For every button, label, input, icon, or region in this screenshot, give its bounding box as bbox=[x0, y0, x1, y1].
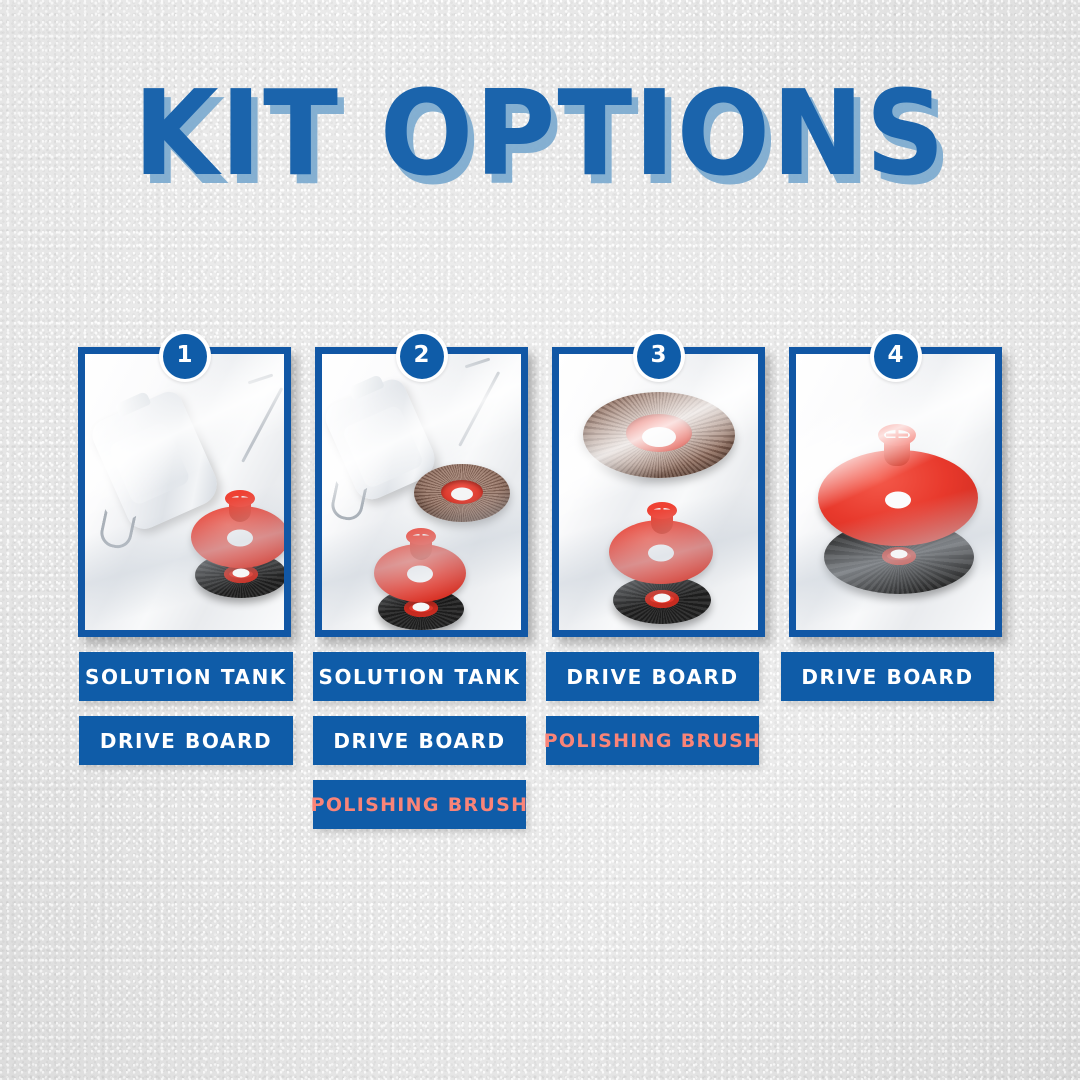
card-number-badge: 3 bbox=[633, 330, 685, 382]
label-bar-polishing-brush[interactable]: POLISHING BRUSH bbox=[546, 716, 759, 765]
label-bar[interactable]: SOLUTION TANK bbox=[79, 652, 293, 701]
card-number-badge-label: 4 bbox=[874, 334, 918, 379]
label-bar[interactable]: SOLUTION TANK bbox=[313, 652, 526, 701]
kit-option-card-2[interactable]: 2 bbox=[315, 347, 528, 637]
kit-option-card-1[interactable]: 1 bbox=[78, 347, 291, 637]
tank-hook-icon bbox=[98, 509, 137, 551]
card-number-badge-label: 3 bbox=[637, 334, 681, 379]
card-number-badge: 2 bbox=[396, 330, 448, 382]
label-bar[interactable]: DRIVE BOARD bbox=[781, 652, 994, 701]
tank-wand-tip-icon bbox=[248, 374, 274, 385]
drive-hub-icon bbox=[647, 502, 677, 519]
product-illustration bbox=[559, 354, 758, 630]
polishing-brush-icon bbox=[414, 464, 510, 522]
tank-wand-icon bbox=[241, 387, 283, 463]
drive-hub-icon bbox=[878, 424, 916, 446]
product-photo-1 bbox=[85, 354, 284, 630]
drive-hub-icon bbox=[225, 490, 255, 507]
product-photo-4 bbox=[796, 354, 995, 630]
drive-board-stack bbox=[370, 522, 480, 630]
drive-board-stack bbox=[187, 484, 284, 604]
tank-wand-icon bbox=[458, 371, 500, 447]
label-column-4: DRIVE BOARD bbox=[781, 652, 994, 716]
label-bar[interactable]: DRIVE BOARD bbox=[79, 716, 293, 765]
card-number-badge: 1 bbox=[159, 330, 211, 382]
kit-option-card-3[interactable]: 3 bbox=[552, 347, 765, 637]
kit-options-card-row: 1 2 bbox=[78, 347, 1002, 637]
product-illustration bbox=[85, 354, 284, 630]
drive-board-stack bbox=[810, 406, 990, 606]
tank-hook-icon bbox=[329, 481, 368, 523]
label-column-2: SOLUTION TANK DRIVE BOARD POLISHING BRUS… bbox=[313, 652, 526, 844]
card-number-badge: 4 bbox=[870, 330, 922, 382]
polishing-brush-hole bbox=[451, 488, 473, 501]
tank-wand-tip-icon bbox=[465, 358, 491, 369]
product-illustration bbox=[322, 354, 521, 630]
label-bar[interactable]: DRIVE BOARD bbox=[546, 652, 759, 701]
product-photo-3 bbox=[559, 354, 758, 630]
polishing-brush-icon bbox=[583, 392, 735, 478]
label-bar[interactable]: DRIVE BOARD bbox=[313, 716, 526, 765]
polishing-brush-hole bbox=[642, 427, 676, 447]
card-number-badge-label: 2 bbox=[400, 334, 444, 379]
page-title: KIT OPTIONS bbox=[38, 74, 1042, 192]
kit-option-card-4[interactable]: 4 bbox=[789, 347, 1002, 637]
product-illustration bbox=[796, 354, 995, 630]
drive-board-stack bbox=[605, 494, 725, 630]
label-bar-polishing-brush[interactable]: POLISHING BRUSH bbox=[313, 780, 526, 829]
label-column-3: DRIVE BOARD POLISHING BRUSH bbox=[546, 652, 759, 780]
product-photo-2 bbox=[322, 354, 521, 630]
label-column-1: SOLUTION TANK DRIVE BOARD bbox=[79, 652, 293, 780]
card-number-badge-label: 1 bbox=[163, 334, 207, 379]
drive-hub-icon bbox=[406, 528, 436, 545]
